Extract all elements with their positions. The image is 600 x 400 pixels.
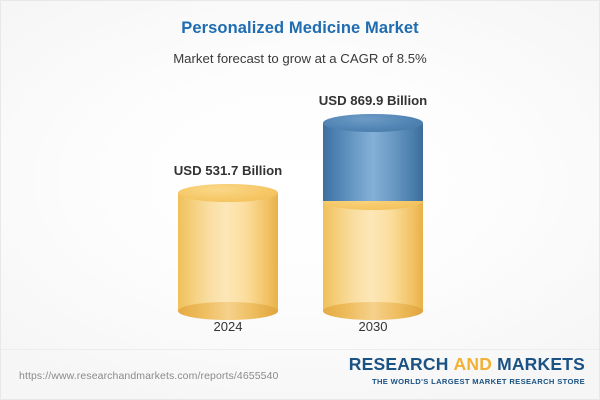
logo-wordmark: RESEARCHANDMARKETS [349,356,585,374]
value-label-2030: USD 869.9 Billion [303,93,443,108]
chart-header: Personalized Medicine Market Market fore… [1,1,599,67]
cylinder-top-cap [178,184,278,202]
cylinder-body [178,193,278,311]
bar-2024: USD 531.7 Billion [158,81,298,331]
bar-2030: USD 869.9 Billion [303,81,443,331]
value-label-2024: USD 531.7 Billion [158,163,298,178]
cylinder-segment-growth-2030 [323,123,423,201]
logo-word-markets: MARKETS [497,354,585,374]
footer: https://www.researchandmarkets.com/repor… [1,348,599,399]
x-tick-2024: 2024 [158,319,298,334]
source-url-link[interactable]: https://www.researchandmarkets.com/repor… [19,370,278,382]
x-tick-2030: 2030 [303,319,443,334]
cylinder-body [323,201,423,311]
x-axis: 2024 2030 [1,319,600,339]
research-and-markets-logo[interactable]: RESEARCHANDMARKETS THE WORLD'S LARGEST M… [349,356,585,385]
chart-plot-area: USD 531.7 Billion USD 869.9 Billion [1,81,600,331]
logo-word-research: RESEARCH [349,354,449,374]
cylinder-2024 [178,193,278,311]
cylinder-top-cap [323,114,423,132]
page-title: Personalized Medicine Market [1,19,599,39]
cylinder-segment-base-2024 [178,193,278,311]
cylinder-bottom-cap [323,302,423,320]
cylinder-body [323,123,423,201]
logo-word-and: AND [454,354,493,374]
cylinder-2030 [323,123,423,311]
chart-subtitle: Market forecast to grow at a CAGR of 8.5… [1,51,599,67]
infographic-card: Personalized Medicine Market Market fore… [0,0,600,400]
logo-tagline: THE WORLD'S LARGEST MARKET RESEARCH STOR… [349,378,585,386]
cylinder-segment-base-2030 [323,201,423,311]
cylinder-bottom-cap [178,302,278,320]
